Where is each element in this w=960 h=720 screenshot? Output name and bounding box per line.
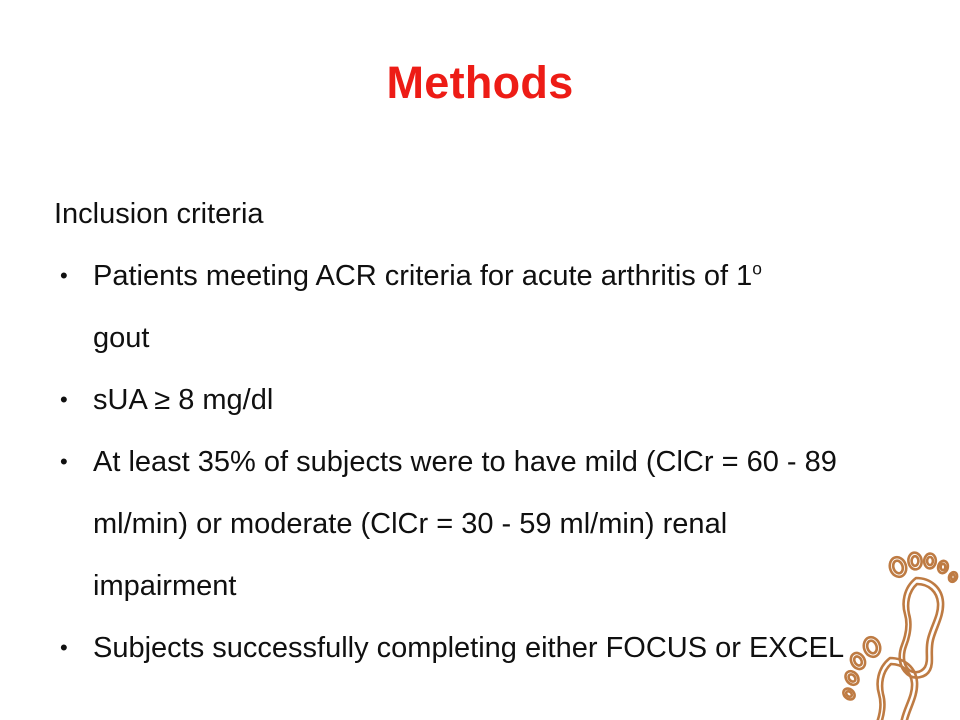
bullet-icon: • [60, 245, 76, 307]
list-item-line-continued: impairment [93, 555, 932, 617]
inclusion-criteria-heading: Inclusion criteria [52, 183, 932, 245]
list-item: • sUA ≥ 8 mg/dl [52, 369, 932, 431]
bullet-icon: • [60, 617, 76, 679]
superscript-degree: o [752, 258, 762, 278]
bullet-icon: • [60, 431, 76, 493]
list-item-line: sUA ≥ 8 mg/dl [93, 369, 932, 431]
list-item: • Subjects successfully completing eithe… [52, 617, 932, 679]
list-item-line: At least 35% of subjects were to have mi… [93, 431, 932, 493]
list-item-line: Patients meeting ACR criteria for acute … [93, 245, 932, 307]
slide-body: Inclusion criteria • Patients meeting AC… [52, 183, 932, 679]
list-item-text: Patients meeting ACR criteria for acute … [93, 260, 752, 292]
list-item-line-continued: ml/min) or moderate (ClCr = 30 - 59 ml/m… [93, 493, 932, 555]
bullet-icon: • [60, 369, 76, 431]
list-item: • Patients meeting ACR criteria for acut… [52, 245, 932, 369]
list-item-line-continued: gout [93, 307, 932, 369]
slide-canvas: Methods Inclusion criteria • Patients me… [0, 0, 960, 720]
list-item: • At least 35% of subjects were to have … [52, 431, 932, 617]
list-item-line: Subjects successfully completing either … [93, 617, 932, 679]
page-title: Methods [0, 58, 960, 108]
